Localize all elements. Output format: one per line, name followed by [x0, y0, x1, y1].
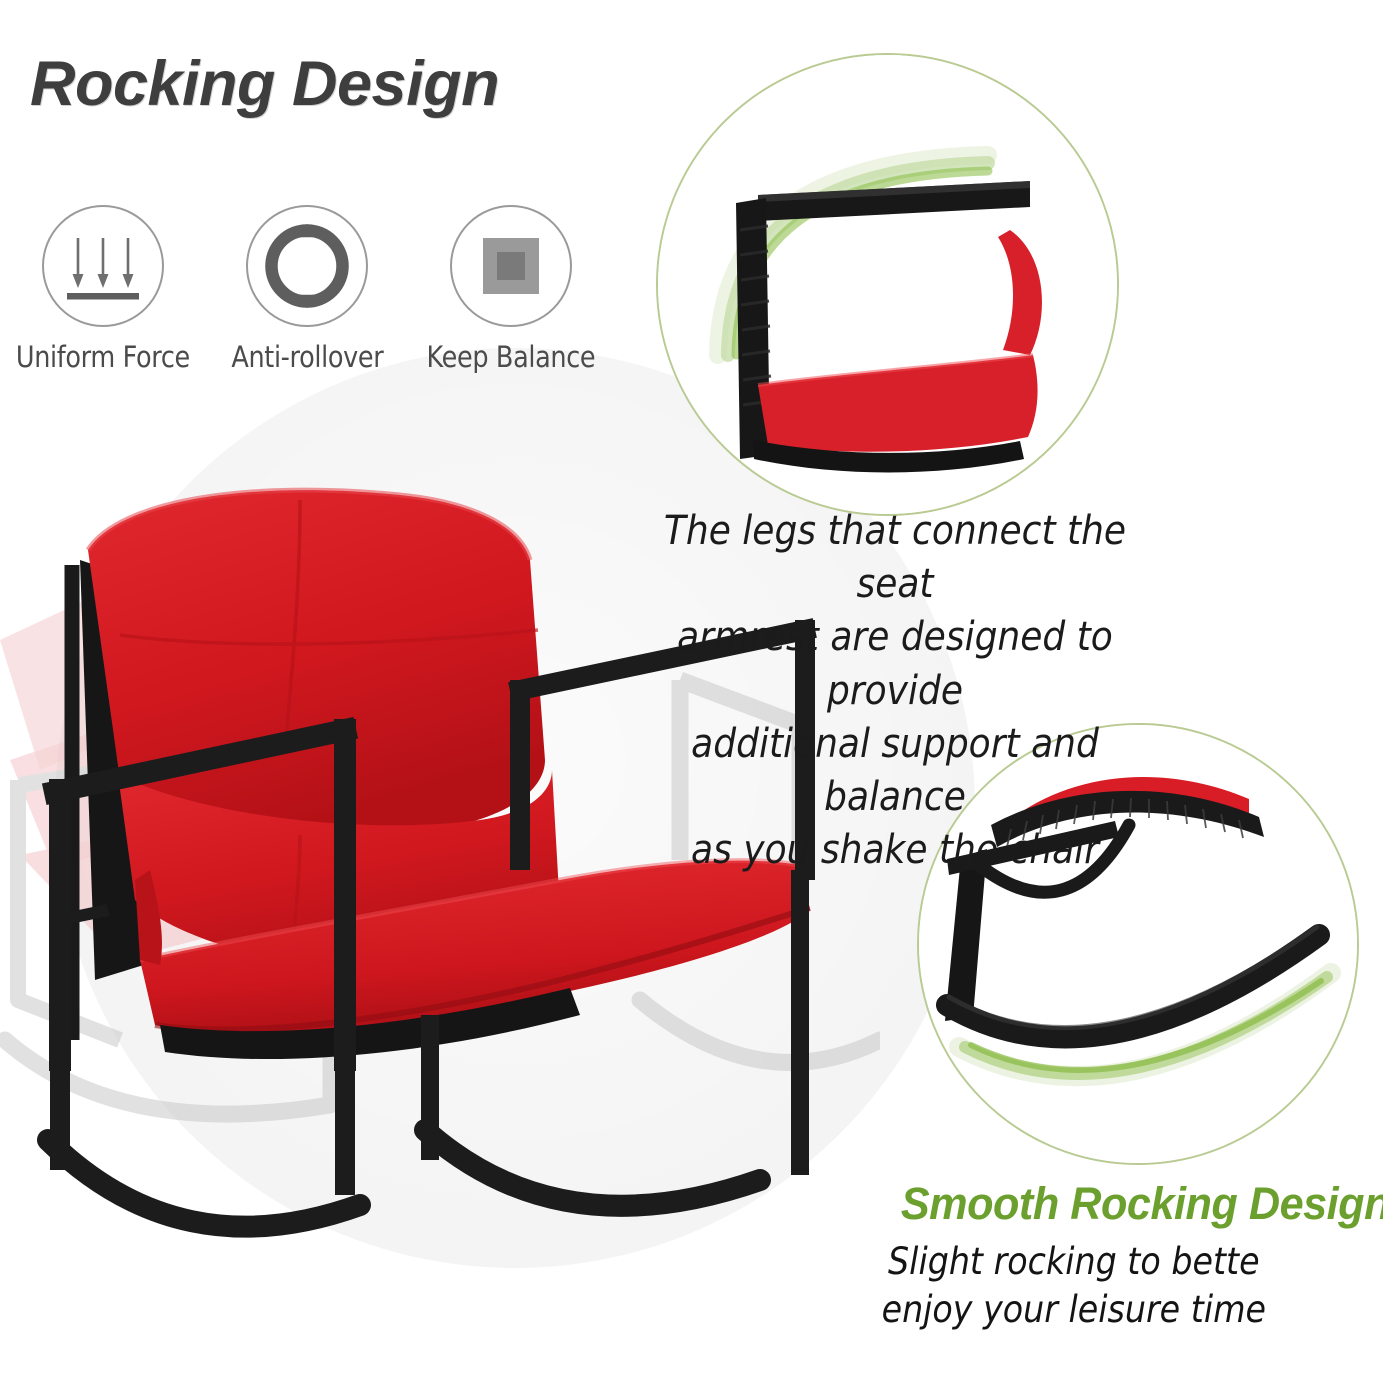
inset-armrest-leg-closeup	[656, 53, 1119, 516]
feature-badge-uniform-force: Uniform Force	[18, 205, 188, 374]
badge-label: Anti-rollover	[231, 340, 383, 374]
smooth-rocking-callout: Smooth Rocking Design Slight rocking to …	[790, 1178, 1383, 1334]
feature-badge-anti-rollover: Anti-rollover	[222, 205, 392, 374]
paragraph-line: additional support and balance	[630, 718, 1161, 824]
callout-subtitle-line: Slight rocking to bette	[820, 1238, 1328, 1286]
left-rocker-skid	[48, 1055, 360, 1227]
feature-badge-keep-balance: Keep Balance	[426, 205, 596, 374]
paragraph-line: The legs that connect the seat	[630, 505, 1161, 611]
callout-title: Smooth Rocking Design	[814, 1178, 1383, 1230]
armrest-leg-closeup-svg	[658, 55, 1117, 514]
paragraph-line: armrest are designed to provide	[630, 611, 1161, 717]
infographic-canvas: Rocking Design U	[0, 0, 1383, 1383]
badge-circle	[246, 205, 368, 327]
badge-circle	[450, 205, 572, 327]
badge-circle	[42, 205, 164, 327]
description-paragraph: The legs that connect the seat armrest a…	[630, 505, 1161, 877]
callout-subtitle: Slight rocking to bette enjoy your leisu…	[820, 1238, 1360, 1334]
badge-label: Keep Balance	[427, 340, 596, 374]
badge-label: Uniform Force	[16, 340, 190, 374]
circular-rotation-arrows-icon	[259, 218, 355, 314]
callout-subtitle-line: enjoy your leisure time	[820, 1286, 1328, 1334]
nested-squares-icon	[461, 216, 561, 316]
down-arrows-on-bar-icon	[53, 216, 153, 316]
page-title: Rocking Design	[30, 48, 499, 120]
right-rocker-skid	[425, 1130, 800, 1206]
paragraph-line: as you shake the chair	[630, 824, 1161, 877]
feature-badge-row: Uniform Force Anti-rollover	[18, 205, 596, 374]
